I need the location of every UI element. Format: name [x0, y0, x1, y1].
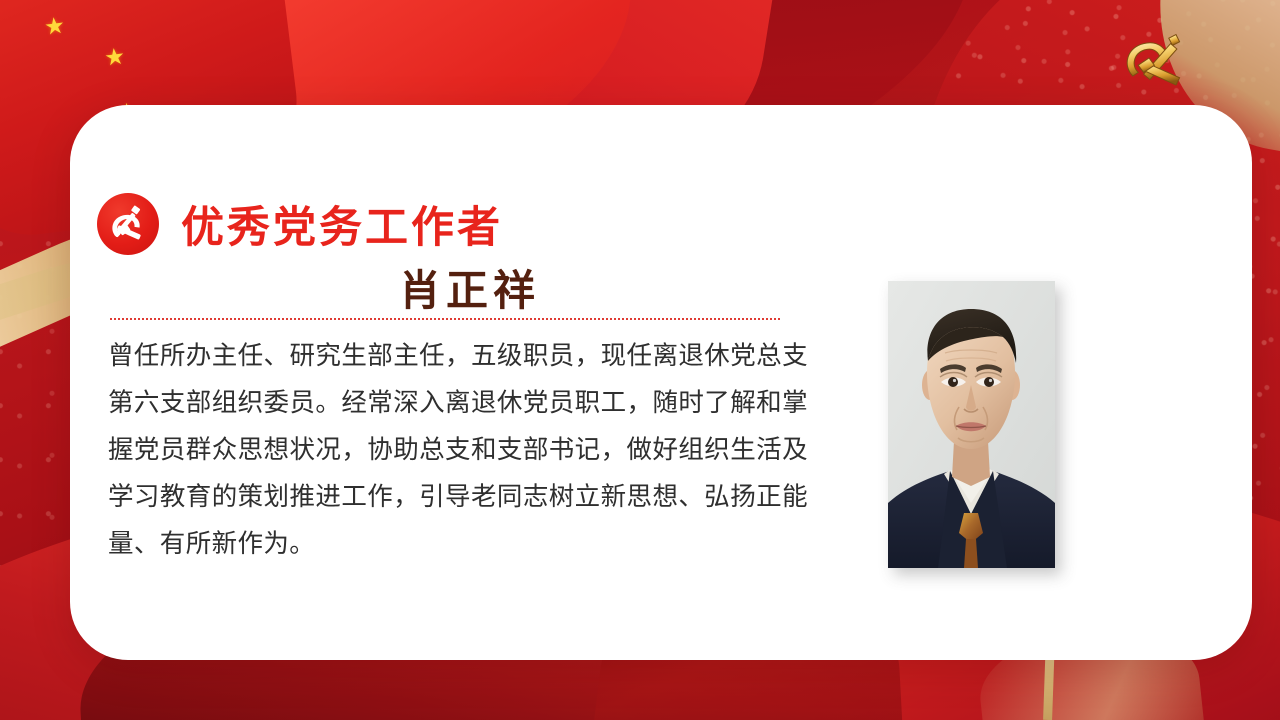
title-row: 优秀党务工作者 — [97, 193, 503, 255]
biography-paragraph: 曾任所办主任、研究生部主任，五级职员，现任离退休党总支第六支部组织委员。经常深入… — [108, 333, 808, 568]
slide-canvas: ★ ★ ★ ★ ★ — [0, 0, 1280, 720]
hammer-sickle-emblem-icon — [97, 193, 159, 255]
flag-star-small-1: ★ — [43, 14, 66, 39]
gold-hammer-sickle-emblem-icon — [1112, 22, 1204, 94]
dotted-divider — [110, 318, 780, 320]
person-name: 肖正祥 — [97, 257, 842, 318]
page-title: 优秀党务工作者 — [181, 193, 503, 255]
flag-star-small-2: ★ — [103, 44, 126, 69]
content-card: 优秀党务工作者 肖正祥 曾任所办主任、研究生部主任，五级职员，现任离退休党总支第… — [70, 105, 1252, 660]
portrait-photo — [888, 281, 1055, 568]
